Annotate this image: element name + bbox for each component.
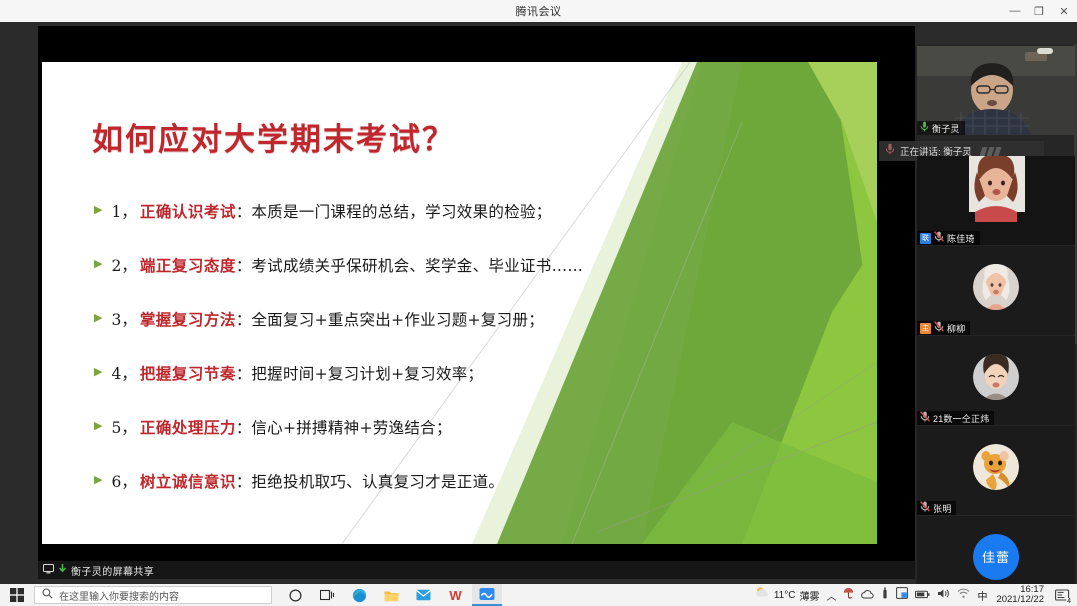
edge-icon[interactable]: [344, 584, 374, 606]
window-controls: — ❐ ✕: [1003, 0, 1077, 22]
bullet-body: 全面复习+重点突出+作业习题+复习册；: [251, 308, 544, 330]
microphone-muted-icon: [920, 409, 930, 425]
bullet-number: 4，: [111, 362, 136, 384]
bullet-keyword: 端正复习态度: [140, 254, 236, 276]
weather-widget[interactable]: 11°C 薄雾: [755, 586, 820, 604]
participant-tile[interactable]: 主 柳柳: [917, 246, 1075, 335]
participant-name: 柳柳: [947, 322, 965, 335]
system-tray: 11°C 薄雾 ︿ 中: [755, 585, 1077, 605]
bullet-marker-icon: ▶: [94, 200, 102, 220]
task-view-icon[interactable]: [312, 584, 342, 606]
microphone-muted-icon: [934, 319, 944, 335]
bullet-number: 1，: [111, 200, 136, 222]
bullet-keyword: 树立诚信意识: [140, 470, 236, 492]
bullet-keyword: 正确认识考试: [140, 200, 236, 222]
avatar: [973, 264, 1019, 310]
participant-nametag: 主 柳柳: [917, 321, 970, 335]
bullet-keyword: 正确处理压力: [140, 416, 236, 438]
participant-nametag: 21数一仝正炜: [917, 411, 994, 425]
participant-nametag: 张明: [917, 501, 956, 515]
presentation-slide: 如何应对大学期末考试？ ▶ 1， 正确认识考试 ： 本质是一门课程的总结，学习效…: [42, 62, 877, 544]
battery-icon[interactable]: [915, 586, 930, 604]
bullet-marker-icon: ▶: [94, 308, 102, 328]
tencent-meeting-icon[interactable]: [472, 584, 502, 606]
bullet-body: 考试成绩关乎保研机会、奖学金、毕业证书……: [251, 254, 583, 276]
co-host-badge: 联: [920, 233, 931, 244]
screen-share-banner-text: 衡子灵的屏幕共享: [71, 563, 154, 578]
participant-name: 张明: [933, 502, 951, 515]
slide-bullet-list: ▶ 1， 正确认识考试 ： 本质是一门课程的总结，学习效果的检验； ▶ 2， 端…: [94, 200, 834, 524]
wifi-icon[interactable]: [957, 586, 970, 604]
bullet-body: 拒绝投机取巧、认真复习才是正道。: [251, 470, 504, 492]
list-item: ▶ 2， 端正复习态度 ： 考试成绩关乎保研机会、奖学金、毕业证书……: [94, 254, 834, 308]
bullet-number: 5，: [111, 416, 136, 438]
maximize-button[interactable]: ❐: [1027, 0, 1051, 22]
participant-nametag: 联 陈佳琦: [917, 231, 980, 245]
participant-name: 陈佳琦: [947, 232, 975, 245]
windows-taskbar: 在这里输入你要搜索的内容 W: [0, 584, 1077, 606]
file-explorer-icon[interactable]: [376, 584, 406, 606]
sun-cloud-icon: [755, 586, 770, 604]
participant-tile[interactable]: 联 陈佳琦: [917, 156, 1075, 245]
meeting-body: 如何应对大学期末考试？ ▶ 1， 正确认识考试 ： 本质是一门课程的总结，学习效…: [0, 22, 1077, 584]
clock[interactable]: 16:17 2021/12/22: [994, 585, 1046, 605]
list-item: ▶ 5， 正确处理压力 ： 信心+拼搏精神+劳逸结合；: [94, 416, 834, 470]
microphone-on-icon: [920, 119, 929, 135]
participant-tile[interactable]: 张明: [917, 426, 1075, 515]
search-input[interactable]: 在这里输入你要搜索的内容: [34, 586, 272, 604]
participant-tile[interactable]: 21数一仝正炜: [917, 336, 1075, 425]
bullet-separator: ：: [236, 200, 252, 222]
notification-count: 4: [1066, 598, 1072, 605]
bullet-separator: ：: [236, 470, 252, 492]
audio-level-bars-icon: [981, 147, 1000, 156]
bullet-separator: ：: [236, 362, 252, 384]
monitor-icon: [43, 561, 54, 579]
taskbar-app-buttons: W: [280, 584, 502, 606]
list-item: ▶ 3， 掌握复习方法 ： 全面复习+重点突出+作业习题+复习册；: [94, 308, 834, 362]
search-placeholder: 在这里输入你要搜索的内容: [59, 588, 179, 603]
bullet-keyword: 把握复习节奏: [140, 362, 236, 384]
svg-text:W: W: [449, 588, 462, 602]
chevron-up-icon[interactable]: ︿: [826, 588, 836, 603]
microphone-muted-icon: [920, 499, 930, 515]
bullet-number: 2，: [111, 254, 136, 276]
window-title: 腾讯会议: [516, 3, 562, 19]
bullet-separator: ：: [236, 308, 252, 330]
participant-rail: 衡子灵 正在讲话: 衡子灵: [915, 44, 1077, 606]
microphone-icon: [885, 142, 895, 160]
bullet-marker-icon: ▶: [94, 416, 102, 436]
mail-icon[interactable]: [408, 584, 438, 606]
umbrella-icon[interactable]: [843, 586, 854, 604]
bullet-separator: ：: [236, 254, 252, 276]
avatar: 佳蕾: [973, 534, 1019, 580]
notification-icon[interactable]: 4: [1053, 586, 1071, 604]
bullet-number: 6，: [111, 470, 136, 492]
participant-name: 21数一仝正炜: [933, 412, 989, 425]
participant-tile[interactable]: 衡子灵: [917, 46, 1075, 135]
windows-start-icon[interactable]: [0, 584, 34, 606]
bullet-body: 把握时间+复习计划+复习效率；: [251, 362, 483, 384]
wps-office-icon[interactable]: W: [440, 584, 470, 606]
volume-icon[interactable]: [937, 586, 950, 604]
weather-temperature: 11°C: [774, 590, 796, 601]
cortana-icon[interactable]: [280, 584, 310, 606]
screen-share-banner: 衡子灵的屏幕共享: [38, 561, 915, 579]
list-item: ▶ 6， 树立诚信意识 ： 拒绝投机取巧、认真复习才是正道。: [94, 470, 834, 524]
host-badge: 主: [920, 323, 931, 334]
shared-screen-stage[interactable]: 如何应对大学期末考试？ ▶ 1， 正确认识考试 ： 本质是一门课程的总结，学习效…: [38, 26, 915, 579]
bullet-marker-icon: ▶: [94, 362, 102, 382]
bullet-separator: ：: [236, 416, 252, 438]
cloud-icon[interactable]: [861, 586, 874, 604]
ime-indicator[interactable]: 中: [977, 588, 987, 603]
clock-date: 2021/12/22: [996, 595, 1044, 605]
close-button[interactable]: ✕: [1051, 0, 1077, 22]
bullet-keyword: 掌握复习方法: [140, 308, 236, 330]
participant-name: 衡子灵: [932, 122, 960, 135]
bullet-number: 3，: [111, 308, 136, 330]
avatar: [973, 444, 1019, 490]
list-item: ▶ 4， 把握复习节奏 ： 把握时间+复习计划+复习效率；: [94, 362, 834, 416]
list-item: ▶ 1， 正确认识考试 ： 本质是一门课程的总结，学习效果的检验；: [94, 200, 834, 254]
participant-nametag: 衡子灵: [917, 121, 965, 135]
minimize-button[interactable]: —: [1003, 0, 1027, 22]
download-arrow-icon: [58, 561, 67, 579]
bullet-marker-icon: ▶: [94, 254, 102, 274]
bullet-marker-icon: ▶: [94, 470, 102, 490]
bullet-body: 信心+拼搏精神+劳逸结合；: [251, 416, 451, 438]
slide-title: 如何应对大学期末考试？: [92, 114, 455, 159]
weather-condition: 薄雾: [799, 588, 819, 603]
avatar: [973, 354, 1019, 400]
screen-icon[interactable]: [896, 586, 908, 604]
microphone-muted-icon: [934, 229, 944, 245]
usb-icon[interactable]: [881, 586, 889, 604]
tencent-meeting-window: 腾讯会议 — ❐ ✕: [0, 0, 1077, 606]
search-icon: [42, 586, 53, 604]
window-title-bar: 腾讯会议 — ❐ ✕: [0, 0, 1077, 22]
bullet-body: 本质是一门课程的总结，学习效果的检验；: [251, 200, 551, 222]
